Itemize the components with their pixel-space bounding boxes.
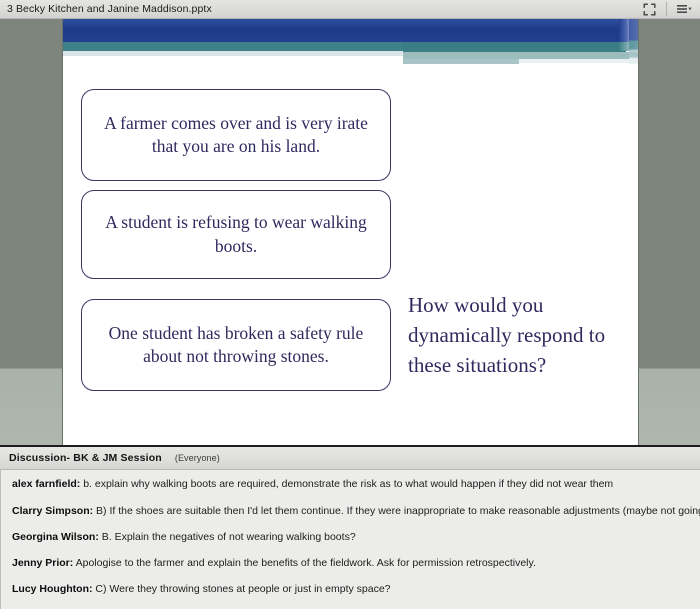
chat-message: Lucy Houghton: C) Were they throwing sto…: [1, 583, 700, 596]
hamburger-menu-icon: [677, 4, 692, 15]
menu-button[interactable]: [670, 0, 698, 19]
toolbar-divider: [666, 2, 667, 16]
statement-box-1: A farmer comes over and is very irate th…: [81, 89, 391, 181]
chat-message: Clarry Simpson: B) If the shoes are suit…: [1, 505, 700, 518]
slide-canvas[interactable]: A farmer comes over and is very irate th…: [63, 19, 638, 445]
fullscreen-button[interactable]: [635, 0, 663, 19]
window-toolbar: [635, 0, 698, 18]
chat-message-text: Apologise to the farmer and explain the …: [73, 557, 536, 569]
discussion-header: Discussion- BK & JM Session (Everyone): [0, 447, 700, 470]
window-title: 3 Becky Kitchen and Janine Maddison.pptx: [7, 3, 635, 15]
chat-message: alex farnfield: b. explain why walking b…: [1, 478, 700, 491]
chat-message-author: alex farnfield:: [12, 478, 80, 490]
chat-message: Georgina Wilson: B. Explain the negative…: [1, 531, 700, 544]
banner-mid-accent-right-2: [403, 59, 519, 64]
chat-message: Jenny Prior: Apologise to the farmer and…: [1, 557, 700, 570]
statement-box-3: One student has broken a safety rule abo…: [81, 299, 391, 391]
discussion-scope-label: (Everyone): [175, 453, 220, 463]
chat-message-text: b. explain why walking boots are require…: [80, 478, 613, 490]
banner-pale-accent-right: [519, 59, 638, 63]
presentation-viewer-window: 3 Becky Kitchen and Janine Maddison.pptx: [0, 0, 700, 609]
discussion-panel: Discussion- BK & JM Session (Everyone) a…: [0, 445, 700, 609]
stage-right-matte: [638, 19, 700, 445]
fullscreen-expand-icon: [643, 3, 656, 16]
chat-message-author: Georgina Wilson:: [12, 531, 99, 543]
slide-banner-decoration: [63, 19, 638, 67]
banner-navy-band: [63, 19, 630, 42]
banner-teal-accent-right: [403, 42, 626, 52]
stage-left-matte: [0, 19, 63, 445]
chat-message-text: C) Were they throwing stones at people o…: [92, 583, 390, 595]
banner-mid-accent-right: [403, 52, 638, 59]
slide-question-text: How would you dynamically respond to the…: [408, 291, 636, 380]
slide-stage: A farmer comes over and is very irate th…: [0, 19, 700, 445]
window-title-bar: 3 Becky Kitchen and Janine Maddison.pptx: [0, 0, 700, 19]
discussion-title: Discussion- BK & JM Session: [9, 452, 162, 464]
chat-message-author: Lucy Houghton:: [12, 583, 92, 595]
chat-message-text: B) If the shoes are suitable then I'd le…: [93, 505, 700, 517]
chat-message-author: Jenny Prior:: [12, 557, 73, 569]
discussion-message-list[interactable]: alex farnfield: b. explain why walking b…: [0, 470, 700, 609]
chat-message-text: B. Explain the negatives of not wearing …: [99, 531, 356, 543]
chat-message-author: Clarry Simpson:: [12, 505, 93, 517]
banner-edge-strip: [629, 19, 638, 64]
statement-box-2: A student is refusing to wear walking bo…: [81, 190, 391, 279]
